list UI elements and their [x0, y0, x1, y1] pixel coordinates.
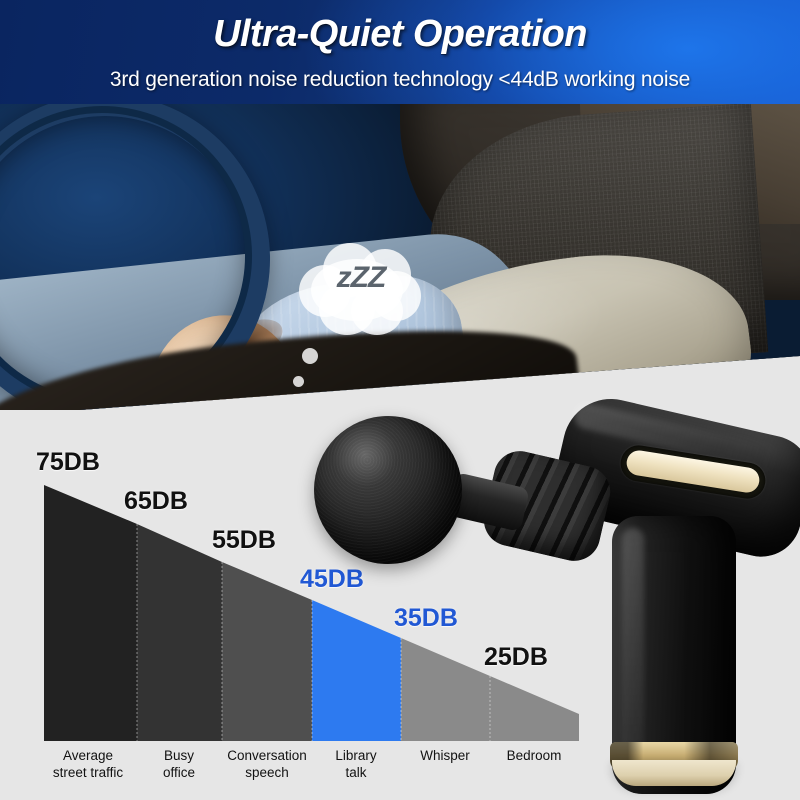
thought-bubble-dot-small — [293, 376, 304, 387]
bar-0 — [44, 485, 137, 741]
db-value-label-2: 55DB — [212, 526, 276, 555]
sleeping-baby-photo: zZZ — [0, 104, 800, 416]
page-subtitle: 3rd generation noise reduction technolog… — [0, 68, 800, 92]
bar-2 — [222, 562, 312, 741]
zzz-text: zZZ — [297, 261, 425, 295]
thought-bubble-dot-large — [302, 348, 318, 364]
massage-gun-product-image — [300, 398, 800, 800]
bar-1 — [137, 524, 222, 741]
product-infographic: Ultra-Quiet Operation 3rd generation noi… — [0, 0, 800, 800]
db-value-label-0: 75DB — [36, 448, 100, 477]
header-banner: Ultra-Quiet Operation 3rd generation noi… — [0, 0, 800, 106]
sleep-thought-bubble-icon: zZZ — [297, 243, 425, 338]
db-value-label-1: 65DB — [124, 487, 188, 516]
gun-base-foot — [612, 760, 736, 786]
page-title: Ultra-Quiet Operation — [0, 13, 800, 56]
gun-handle-highlight — [622, 528, 644, 774]
gun-ball-texture — [314, 416, 462, 564]
